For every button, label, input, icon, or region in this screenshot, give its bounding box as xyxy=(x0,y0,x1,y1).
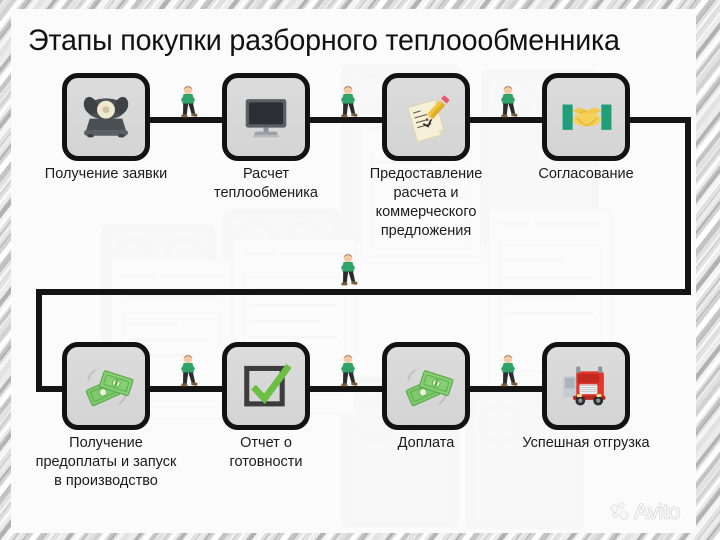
step-4-label: Согласование xyxy=(514,165,658,184)
step-1-label: Получение заявки xyxy=(24,165,188,184)
walking-person-icon-1 xyxy=(177,85,199,119)
step-6-box[interactable] xyxy=(222,342,310,430)
infographic-canvas: Этапы покупки разборного теплоообменника xyxy=(11,9,696,533)
page-title: Этапы покупки разборного теплоообменника xyxy=(28,23,658,59)
step-3-label: Предоставление расчета и коммерческого п… xyxy=(348,165,504,241)
step-1-box[interactable] xyxy=(62,73,150,161)
step-7-label: Доплата xyxy=(356,434,496,453)
walking-person-icon-4 xyxy=(497,85,519,119)
walking-person-icon-5 xyxy=(177,354,199,388)
step-6-label: Отчет о готовности xyxy=(192,434,340,472)
truck-icon xyxy=(560,360,612,412)
step-3-box[interactable] xyxy=(382,73,470,161)
money-icon xyxy=(400,360,452,412)
connector-wrap-right-vertical xyxy=(685,117,691,295)
notepad-pencil-icon xyxy=(400,91,452,143)
walking-person-icon-3 xyxy=(337,253,359,287)
handshake-icon xyxy=(560,91,612,143)
avito-wordmark: Avito xyxy=(634,501,680,523)
connector-wrap-bottom xyxy=(36,289,691,295)
step-8-label: Успешная отгрузка xyxy=(508,434,664,453)
connector-wrap-left-vertical xyxy=(36,289,42,392)
step-5-box[interactable] xyxy=(62,342,150,430)
step-2-box[interactable] xyxy=(222,73,310,161)
step-4-box[interactable] xyxy=(542,73,630,161)
step-7-box[interactable] xyxy=(382,342,470,430)
monitor-icon xyxy=(240,91,292,143)
walking-person-icon-6 xyxy=(337,354,359,388)
walking-person-icon-7 xyxy=(497,354,519,388)
step-5-label: Получение предоплаты и запуск в производ… xyxy=(14,434,198,491)
checkbox-check-icon xyxy=(240,360,292,412)
textured-border-frame: Этапы покупки разборного теплоообменника xyxy=(0,0,720,540)
connector-4-wrap-top xyxy=(630,117,691,123)
avito-logo-icon xyxy=(611,503,631,521)
telephone-icon xyxy=(80,91,132,143)
walking-person-icon-2 xyxy=(337,85,359,119)
step-2-label: Расчет теплообменика xyxy=(192,165,340,203)
money-icon xyxy=(80,360,132,412)
avito-watermark: Avito xyxy=(611,501,680,523)
step-8-box[interactable] xyxy=(542,342,630,430)
